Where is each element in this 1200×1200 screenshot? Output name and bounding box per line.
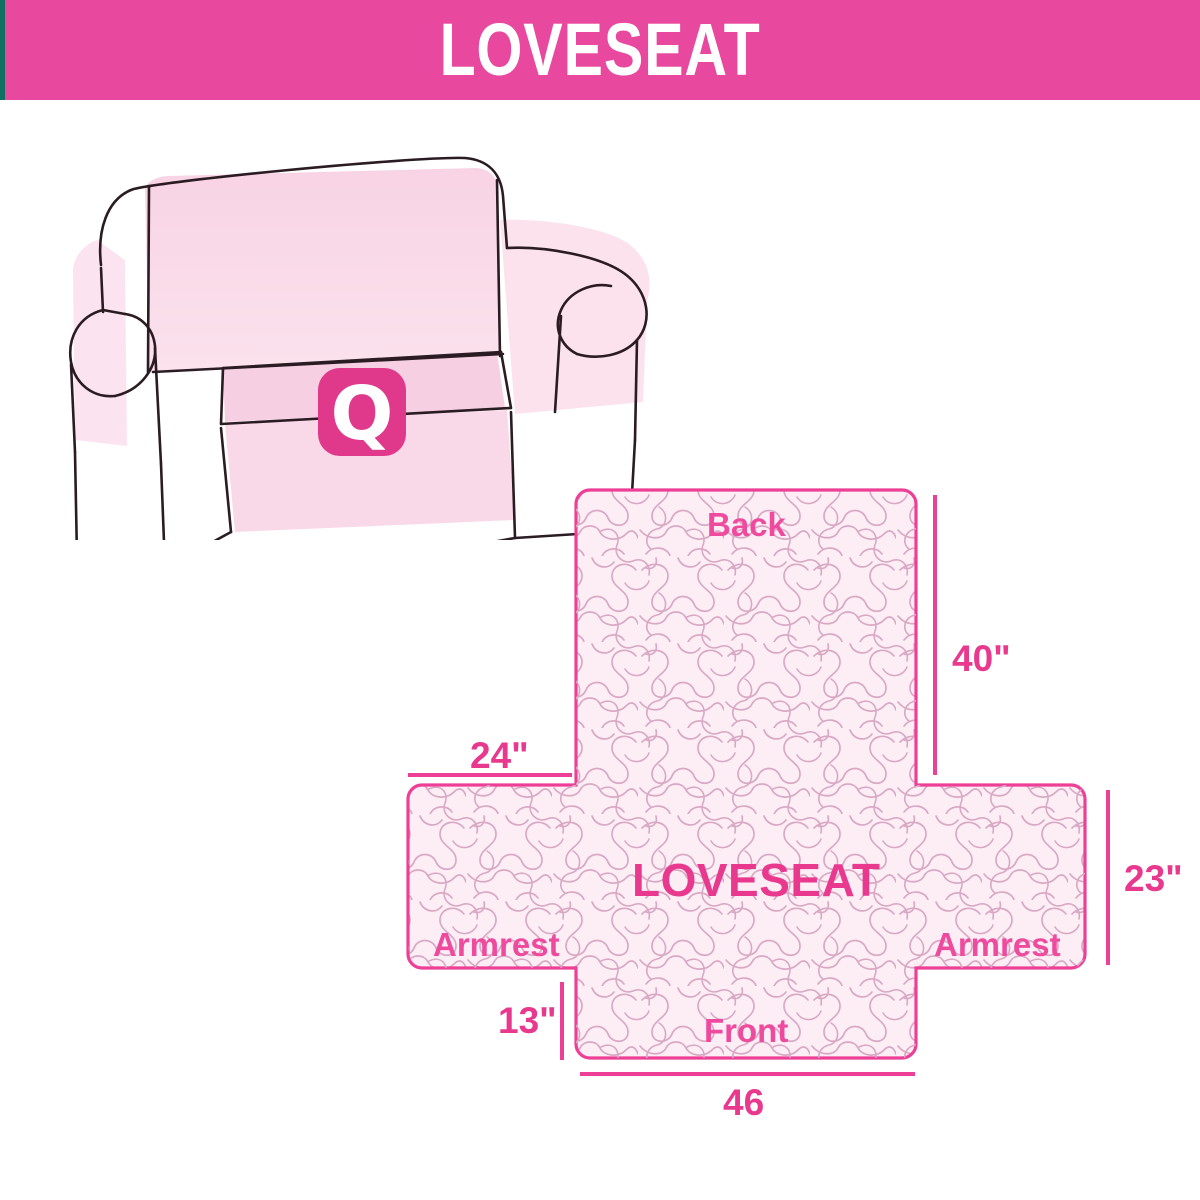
dimension-label-front-drop: 13" xyxy=(498,1000,557,1042)
panel-label-front: Front xyxy=(704,1012,788,1050)
header-accent-strip xyxy=(0,0,5,100)
panel-label-armrest-left: Armrest xyxy=(433,926,560,964)
diagram-center-label: LOVESEAT xyxy=(632,853,881,907)
brand-logo-letter: Q xyxy=(318,368,406,456)
dimension-label-seat-depth: 23" xyxy=(1124,858,1183,900)
dimension-label-back-height: 40" xyxy=(952,638,1011,680)
dimension-label-seat-width: 46 xyxy=(723,1082,764,1124)
header-banner: LOVESEAT xyxy=(0,0,1200,100)
dimension-label-armrest-width: 24" xyxy=(470,735,529,777)
page-title: LOVESEAT xyxy=(120,0,1080,100)
panel-label-armrest-right: Armrest xyxy=(934,926,1061,964)
brand-logo-badge: Q xyxy=(318,368,406,456)
panel-label-back: Back xyxy=(707,506,786,544)
